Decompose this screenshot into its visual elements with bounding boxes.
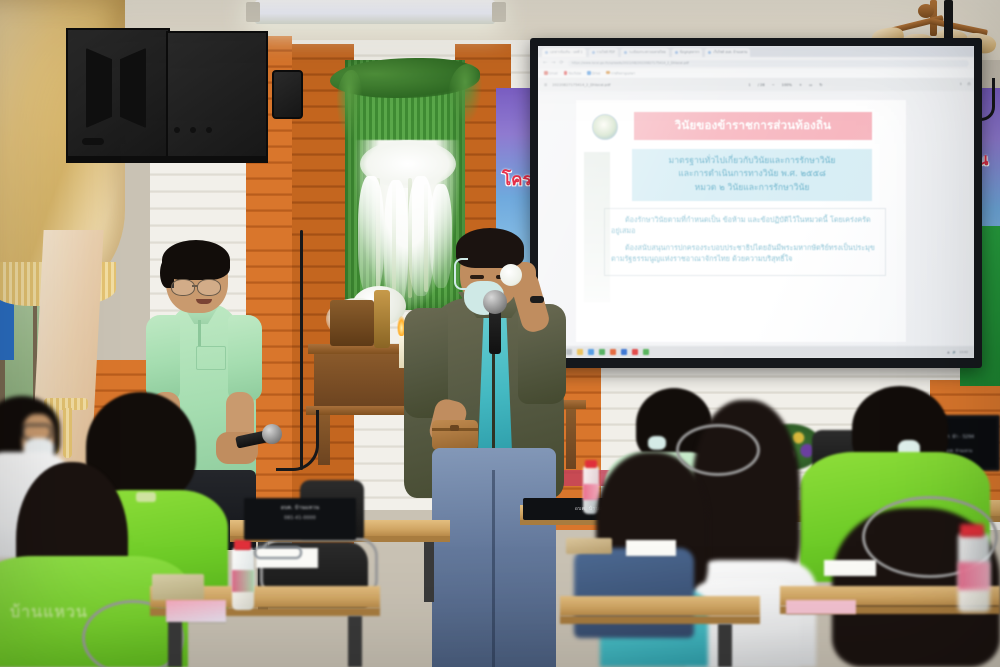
light-fixture-end-left	[246, 2, 260, 22]
excel-icon[interactable]	[599, 349, 605, 355]
presenter-mint-glasses-right-lens	[197, 279, 221, 296]
tissue-box	[152, 574, 204, 600]
speaker-shelf	[66, 156, 266, 163]
water-bottle-label-front-left	[232, 570, 254, 592]
browser-tab[interactable]: รวมไฟล์ PDF	[589, 48, 619, 57]
speaker-cable-wall	[300, 230, 303, 470]
bookmark-item[interactable]: YouTube	[564, 71, 581, 76]
bookmark-item[interactable]: Drive	[587, 71, 600, 76]
presenter-mint-sleeve-right	[228, 315, 262, 401]
browser-tab[interactable]: ระเบียบกระทรวงมหาดไทย	[621, 48, 669, 57]
browser-address-bar[interactable]: ← → ⟳ https://www.local.go.th/uploads/20…	[538, 57, 974, 69]
taskbar-clock[interactable]: 13:42	[959, 350, 968, 354]
waist-bag-buckle	[450, 425, 459, 431]
tab-favicon	[708, 51, 711, 54]
presenter-mint-glasses-left-lens	[171, 279, 195, 296]
desk-front-left-leg-2	[348, 616, 362, 667]
paper-front-right	[824, 560, 876, 576]
browser-tab[interactable]: เว็บไซต์ อบต. บ้านแหวน	[705, 48, 750, 57]
fit-page-icon[interactable]: ▭	[809, 83, 812, 87]
pink-paper-right	[786, 600, 856, 614]
orchid-strand-4	[430, 184, 452, 288]
side-table-leg-right	[566, 409, 576, 469]
jeans-center-seam	[492, 470, 495, 667]
fluorescent-tube-light	[255, 0, 495, 24]
altar-cabinet	[330, 300, 374, 346]
slide-subtitle-line: มาตรฐานทั่วไปเกี่ยวกับวินัยและการรักษาวิ…	[635, 155, 869, 168]
desk-front-right-edge	[560, 616, 760, 624]
pdf-icon[interactable]	[610, 349, 616, 355]
water-bottle-label-center	[583, 484, 599, 500]
file-explorer-icon[interactable]	[577, 349, 583, 355]
tab-favicon	[592, 51, 595, 54]
government-seal-logo	[592, 114, 618, 140]
pdf-filename: 20220827175414_2_Dhlocal.pdf	[552, 83, 610, 87]
hamburger-icon[interactable]: ☰	[544, 83, 547, 87]
edge-icon[interactable]	[588, 349, 594, 355]
bookmark-item[interactable]: ราชกิจจานุเบกษา	[606, 71, 635, 77]
browser-tab[interactable]: เอกสารท้องถิ่น - บทที่ 1	[542, 48, 586, 57]
desk-leg	[424, 542, 434, 602]
rotate-icon[interactable]: ↻	[819, 83, 822, 87]
audience-lime-left-collar	[136, 492, 156, 502]
pdf-page-controls[interactable]: 1 / 28 − 100% + ▭ ↻	[748, 83, 822, 87]
presenter-mint-sleeve-left	[146, 315, 180, 401]
pa-speaker-cabinet-left	[66, 28, 170, 160]
back-icon[interactable]: ←	[543, 60, 547, 66]
presenter-mint-glasses-bridge	[192, 285, 198, 287]
pdf-slide-page: วินัยของข้าราชการส่วนท้องถิ่น มาตรฐานทั่…	[576, 100, 906, 342]
download-icon[interactable]: ⭳	[960, 82, 961, 88]
slide-subtitle-line: หมวด ๒ วินัยและการรักษาวินัย	[635, 182, 869, 195]
seminar-room-photo: โครง ณ หวน หม่ เอกสารท้องถิ่น - บทที่ 1 …	[0, 0, 1000, 667]
system-tray[interactable]: ▲ 🔊 13:42	[947, 350, 968, 354]
buddha-image-gold	[374, 290, 390, 348]
audience-mint-back-mask	[648, 436, 666, 450]
zoom-in-icon[interactable]: +	[799, 83, 802, 87]
wall-mounted-speaker	[272, 70, 303, 119]
microphone-cable-1	[276, 410, 319, 471]
booklet-mid-desk	[566, 538, 612, 554]
orchid-strand-1	[358, 176, 384, 296]
tab-favicon	[624, 51, 627, 54]
water-bottle-label-front-right	[958, 562, 990, 590]
denim-bag-on-chair	[574, 548, 694, 638]
slide-subtitle: มาตรฐานทั่วไปเกี่ยวกับวินัยและการรักษาวิ…	[632, 149, 872, 201]
booklet-front-left	[166, 600, 226, 622]
windows-taskbar[interactable]: ▲ 🔊 13:42	[538, 346, 974, 358]
light-fixture-end-right	[492, 2, 506, 22]
white-flower-corsage	[500, 264, 522, 286]
bookmark-item[interactable]: Gmail	[544, 71, 558, 76]
volume-icon[interactable]: 🔊	[953, 350, 957, 354]
reload-icon[interactable]: ⟳	[559, 60, 563, 66]
slide-paragraph: ต้องรักษาวินัยตามที่กำหนดเป็น ข้อห้าม แล…	[611, 214, 879, 237]
chandelier-center-ornament	[918, 4, 934, 18]
gmail-icon	[544, 71, 548, 75]
pdf-page-total: / 28	[758, 83, 765, 87]
pdf-viewer-toolbar[interactable]: ☰ 20220827175414_2_Dhlocal.pdf 1 / 28 − …	[538, 78, 974, 91]
print-icon[interactable]: ⎙	[968, 82, 971, 88]
paper-center-right	[626, 540, 676, 556]
tab-favicon	[675, 51, 678, 54]
desk-placard-main: อบต. บ้านแหวน 081-41-0000	[244, 498, 356, 540]
water-bottle-cap-front-left	[234, 540, 251, 550]
task-view-icon[interactable]	[566, 349, 572, 355]
presenter-mint-mouth	[196, 299, 212, 304]
eyeglasses-on-desk	[254, 546, 302, 559]
water-bottle-cap-front-right	[960, 524, 984, 537]
desk-front-right	[560, 596, 760, 616]
slide-watermark	[584, 152, 610, 302]
slide-body: ต้องรักษาวินัยตามที่กำหนดเป็น ข้อห้าม แล…	[604, 208, 886, 276]
face-mask-ear-loop	[454, 258, 468, 290]
chrome-icon[interactable]	[643, 349, 649, 355]
browser-tab[interactable]: ข้อมูลบุคลากร	[672, 48, 703, 57]
water-bottle-cap-center	[585, 460, 597, 468]
slide-title: วินัยของข้าราชการส่วนท้องถิ่น	[634, 112, 872, 140]
youtube-icon	[564, 71, 568, 75]
presenter-jacket-eye-left	[470, 275, 484, 279]
app-icon[interactable]	[632, 349, 638, 355]
presenter-mint-placket	[198, 320, 201, 346]
pa-speaker-cabinet-right	[166, 31, 268, 163]
curtain-tassel-right	[63, 408, 72, 458]
desk-front-right-leg	[718, 624, 732, 667]
browser-chrome: เอกสารท้องถิ่น - บทที่ 1 รวมไฟล์ PDF ระเ…	[538, 46, 974, 78]
desk-front-left-leg	[168, 616, 182, 667]
word-icon[interactable]	[621, 349, 627, 355]
zoom-out-icon[interactable]: −	[772, 83, 775, 87]
projected-desktop: เอกสารท้องถิ่น - บทที่ 1 รวมไฟล์ PDF ระเ…	[538, 46, 974, 358]
slide-subtitle-line: และการดำเนินการทางวินัย พ.ศ. ๒๕๕๘	[635, 168, 869, 181]
chair-backrest-ring-center	[676, 424, 760, 476]
pdf-page-current[interactable]: 1	[748, 83, 750, 87]
forward-icon[interactable]: →	[551, 60, 555, 66]
presenter-mint-pocket	[196, 346, 226, 370]
altar-leg-left	[318, 415, 330, 465]
projection-screen: เอกสารท้องถิ่น - บทที่ 1 รวมไฟล์ PDF ระเ…	[530, 38, 982, 368]
browser-tab-bar[interactable]: เอกสารท้องถิ่น - บทที่ 1 รวมไฟล์ PDF ระเ…	[538, 46, 974, 57]
network-icon[interactable]: ▲	[947, 350, 949, 354]
microphone-head-2[interactable]	[483, 290, 507, 314]
drive-icon	[587, 71, 591, 75]
presenter-jacket-wristwatch	[530, 296, 544, 303]
slide-paragraph: ต้องสนับสนุนการปกครองระบอบประชาธิปไตยอัน…	[611, 242, 879, 265]
pdf-actions[interactable]: ⭳ ⎙ ⋮	[960, 82, 974, 88]
gazette-icon	[606, 71, 610, 75]
blue-wall-sign	[0, 300, 14, 360]
tab-favicon	[545, 51, 548, 54]
pdf-zoom-level[interactable]: 100%	[782, 83, 792, 87]
url-input[interactable]: https://www.local.go.th/uploads/2022/08/…	[568, 60, 969, 67]
bookmarks-bar[interactable]: Gmail YouTube Drive ราชกิจจานุเบกษา	[538, 69, 974, 78]
